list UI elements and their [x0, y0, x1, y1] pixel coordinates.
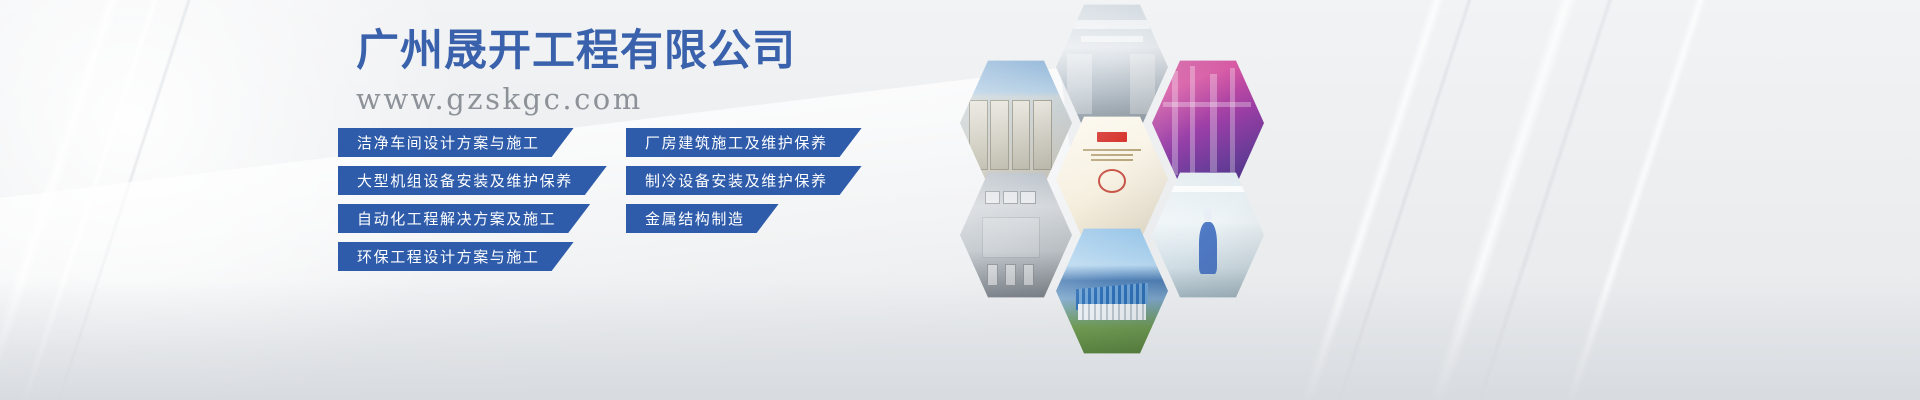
photo-duct-room[interactable]: [1056, 2, 1168, 132]
service-tag[interactable]: 自动化工程解决方案及施工: [338, 204, 590, 233]
photo-factory-building[interactable]: [1056, 226, 1168, 356]
service-tag-list: 洁净车间设计方案与施工 大型机组设备安装及维护保养 自动化工程解决方案及施工 环…: [338, 128, 958, 288]
photo-chiller-units[interactable]: [960, 58, 1072, 188]
company-title: 广州晟开工程有限公司: [356, 28, 916, 74]
service-tag[interactable]: 环保工程设计方案与施工: [338, 242, 574, 271]
photo-pipework[interactable]: [1152, 58, 1264, 188]
service-tag[interactable]: 大型机组设备安装及维护保养: [338, 166, 607, 195]
photo-certificate[interactable]: [1056, 114, 1168, 244]
service-tag[interactable]: 洁净车间设计方案与施工: [338, 128, 574, 157]
photo-cleanroom[interactable]: [1152, 170, 1264, 300]
brand-block: 广州晟开工程有限公司 www.gzskgc.com: [356, 28, 916, 116]
hexagon-photo-cluster: [948, 2, 1278, 308]
photo-switchgear[interactable]: [960, 170, 1072, 300]
company-banner: 广州晟开工程有限公司 www.gzskgc.com 洁净车间设计方案与施工 大型…: [0, 0, 1920, 400]
service-tag[interactable]: 厂房建筑施工及维护保养: [626, 128, 862, 157]
service-tag[interactable]: 金属结构制造: [626, 204, 779, 233]
company-website[interactable]: www.gzskgc.com: [356, 82, 916, 116]
service-tag[interactable]: 制冷设备安装及维护保养: [626, 166, 862, 195]
